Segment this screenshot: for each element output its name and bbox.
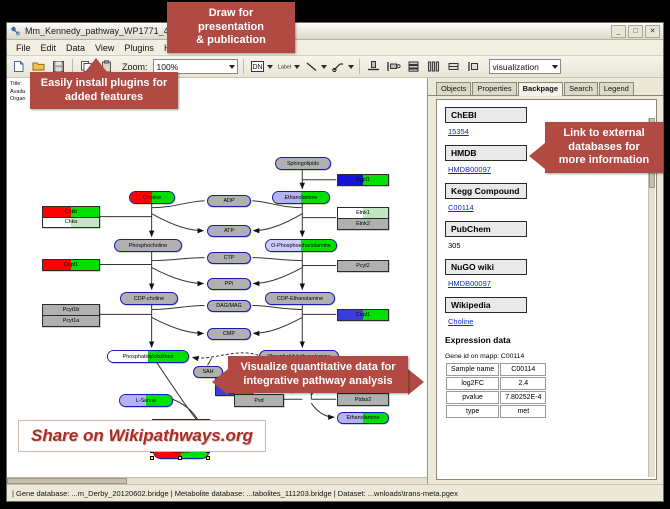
gene-node-label: Chkb [65,209,78,215]
metabolite-node-label: Choline [143,195,161,201]
interaction-tool[interactable] [330,58,354,75]
status-text: | Gene database: ...m_Derby_20120602.bri… [12,489,458,498]
chevron-down-icon [229,65,235,69]
gene-node-label: Pcyt1b [63,307,79,313]
callout-link: Link to external databases for more info… [545,122,663,173]
tab-legend[interactable]: Legend [599,82,634,95]
common-height-icon[interactable] [465,58,482,75]
db-value-wikipedia[interactable]: Choline [448,317,648,326]
metabolite-node-label: Ethanolamine [285,195,318,201]
chevron-down-icon[interactable] [321,65,327,69]
label-tool[interactable]: Label [276,58,300,75]
tab-backpage[interactable]: Backpage [518,82,563,96]
gene-node-label: Pcyt1a [63,318,79,324]
gene-node-label: Ptdss2 [355,397,371,403]
metabolite-node-label: PPi [225,281,233,287]
metabolite-node-label: Ethanolamine [347,415,380,421]
db-heading-chebi: ChEBI [445,107,527,123]
gene-node-label: Chka [65,219,78,225]
table-row: log2FC2.4 [446,377,546,390]
gene-node-label: Etnk2 [356,221,370,227]
gene-node-label: Cept1 [356,312,370,318]
stack-icon[interactable] [405,58,422,75]
metabolite-node-label: Phosphatidylcholines [123,354,174,360]
datanode-tool[interactable]: DN [249,58,273,75]
callout-plugins: Easily install plugins for added feature… [30,72,178,109]
metabolite-node-label: CDP-choline [134,296,164,302]
callout-link-arrow-icon [529,143,545,169]
app-icon [10,26,21,37]
wikipedia-link[interactable]: Choline [448,317,473,326]
tab-search[interactable]: Search [564,82,598,95]
metabolite-node-label: L-Serine [136,398,156,404]
menu-item-data[interactable]: Data [61,42,90,54]
table-row: Sample nameC00114 [446,363,546,376]
svg-text:DN: DN [252,64,262,71]
hmdb-link[interactable]: HMDB00097 [448,165,491,174]
callout-link-line2: databases for [553,141,655,155]
metabolite-node-label: CDP-Ethanolamine [277,296,323,302]
chevron-down-icon[interactable] [294,65,300,69]
gene-node-label: Pcyt2 [356,263,369,269]
receptor-icon[interactable] [330,58,347,75]
gene-node-label: Etnk1 [356,210,370,216]
gene-node-label: Chpt1 [64,262,78,268]
callout-visualize: Visualize quantitative data for integrat… [228,356,408,393]
gene-node-label: Sgpl1 [356,177,370,183]
callout-link-line3: more information [553,154,655,168]
callout-plugins-line1: Easily install plugins for [38,77,170,91]
table-cell-key: pvalue [446,391,499,404]
nugo-link[interactable]: HMDB00097 [448,279,491,288]
chevron-down-icon [552,65,558,69]
close-button[interactable]: ✕ [645,25,660,38]
maximize-button[interactable]: □ [628,25,643,38]
toolbar-separator-2 [243,59,244,74]
new-icon[interactable] [10,58,27,75]
share-text: Share on Wikipathways.org [31,426,253,445]
table-cell-key: log2FC [446,377,499,390]
db-value-pubchem: 305 [448,241,648,250]
metabolite-node-label: O-Phosphoethanolamine [271,243,331,249]
visualization-value: visualization [493,62,539,72]
svg-text:Label: Label [277,65,290,71]
callout-viz-line1: Visualize quantitative data for [236,361,400,375]
db-value-nugo[interactable]: HMDB00097 [448,279,648,288]
window-buttons: _ □ ✕ [611,25,660,38]
line-tool[interactable] [303,58,327,75]
db-heading-pubchem: PubChem [445,221,527,237]
callout-viz-line2: integrative pathway analysis [236,375,400,389]
table-cell-key: Sample name [446,363,499,376]
side-tabs: Objects Properties Backpage Search Legen… [428,81,663,96]
menu-item-plugins[interactable]: Plugins [119,42,159,54]
table-row: typemet [446,405,546,418]
metabolite-node-label: Sphingolipids [287,161,319,167]
datanode-icon[interactable]: DN [249,58,266,75]
table-cell-value: met [500,405,546,418]
db-heading-kegg: Kegg Compound [445,183,527,199]
callout-draw: Draw for presentation & publication [167,2,295,53]
metabolite-node-label: ATP [224,228,234,234]
table-cell-value: 7.80252E-4 [500,391,546,404]
menu-item-file[interactable]: File [11,42,36,54]
common-width-icon[interactable] [445,58,462,75]
expression-table: Sample nameC00114log2FC2.4pvalue7.80252E… [445,362,547,419]
share-banner: Share on Wikipathways.org [18,420,266,452]
callout-plugins-line2: added features [38,91,170,105]
menu-item-view[interactable]: View [90,42,119,54]
chevron-down-icon[interactable] [267,65,273,69]
callout-draw-line2: & publication [175,34,287,48]
chebi-link[interactable]: 15354 [448,127,469,136]
selection-handle[interactable] [206,456,210,460]
minimize-button[interactable]: _ [611,25,626,38]
line-icon[interactable] [303,58,320,75]
metabolite-node-label: CMP [223,331,235,337]
callout-draw-line1: Draw for presentation [175,7,287,34]
table-cell-value: C00114 [500,363,546,376]
table-cell-key: type [446,405,499,418]
zoom-label: Zoom: [122,62,148,72]
table-cell-value: 2.4 [500,377,546,390]
db-heading-wikipedia: Wikipedia [445,297,527,313]
metabolite-node-label: ADP [223,198,234,204]
align-left-icon[interactable] [385,58,402,75]
db-heading-hmdb: HMDB [445,145,527,161]
chevron-down-icon[interactable] [348,65,354,69]
metabolite-node-label: DAG/MAG [216,303,241,309]
title-bar: Mm_Kennedy_pathway_WP1771_45176.gpml - P… [7,23,663,40]
callout-plugins-arrow-icon [85,58,107,72]
visualization-combo[interactable]: visualization [489,59,561,74]
metabolite-node-label: CTP [224,255,235,261]
db-heading-nugo: NuGO wiki [445,259,527,275]
toolbar-separator-3 [359,59,360,74]
tab-properties[interactable]: Properties [472,82,516,95]
gene-id-line: Gene id on mapp: C00114 [445,353,648,360]
canvas-hscrollbar[interactable] [7,477,427,484]
tab-objects[interactable]: Objects [436,82,471,95]
menu-bar: File Edit Data View Plugins Help [7,40,663,56]
callout-viz-arrow-left-icon [212,369,228,395]
zoom-value: 100% [157,62,179,72]
selection-handle[interactable] [178,456,182,460]
callout-link-line1: Link to external [553,127,655,141]
align-bottom-icon[interactable] [365,58,382,75]
distribute-icon[interactable] [425,58,442,75]
db-value-kegg[interactable]: C00114 [448,203,648,212]
status-bar: | Gene database: ...m_Derby_20120602.bri… [7,484,663,501]
metabolite-node-label: Phosphocholine [129,243,167,249]
selection-handle[interactable] [150,456,154,460]
gene-node-label: Psd [254,398,263,404]
kegg-link[interactable]: C00114 [448,203,474,212]
table-row: pvalue7.80252E-4 [446,391,546,404]
callout-viz-arrow-right-icon [408,369,424,395]
label-icon[interactable]: Label [276,58,293,75]
menu-item-edit[interactable]: Edit [36,42,62,54]
expression-data-title: Expression data [445,335,648,345]
